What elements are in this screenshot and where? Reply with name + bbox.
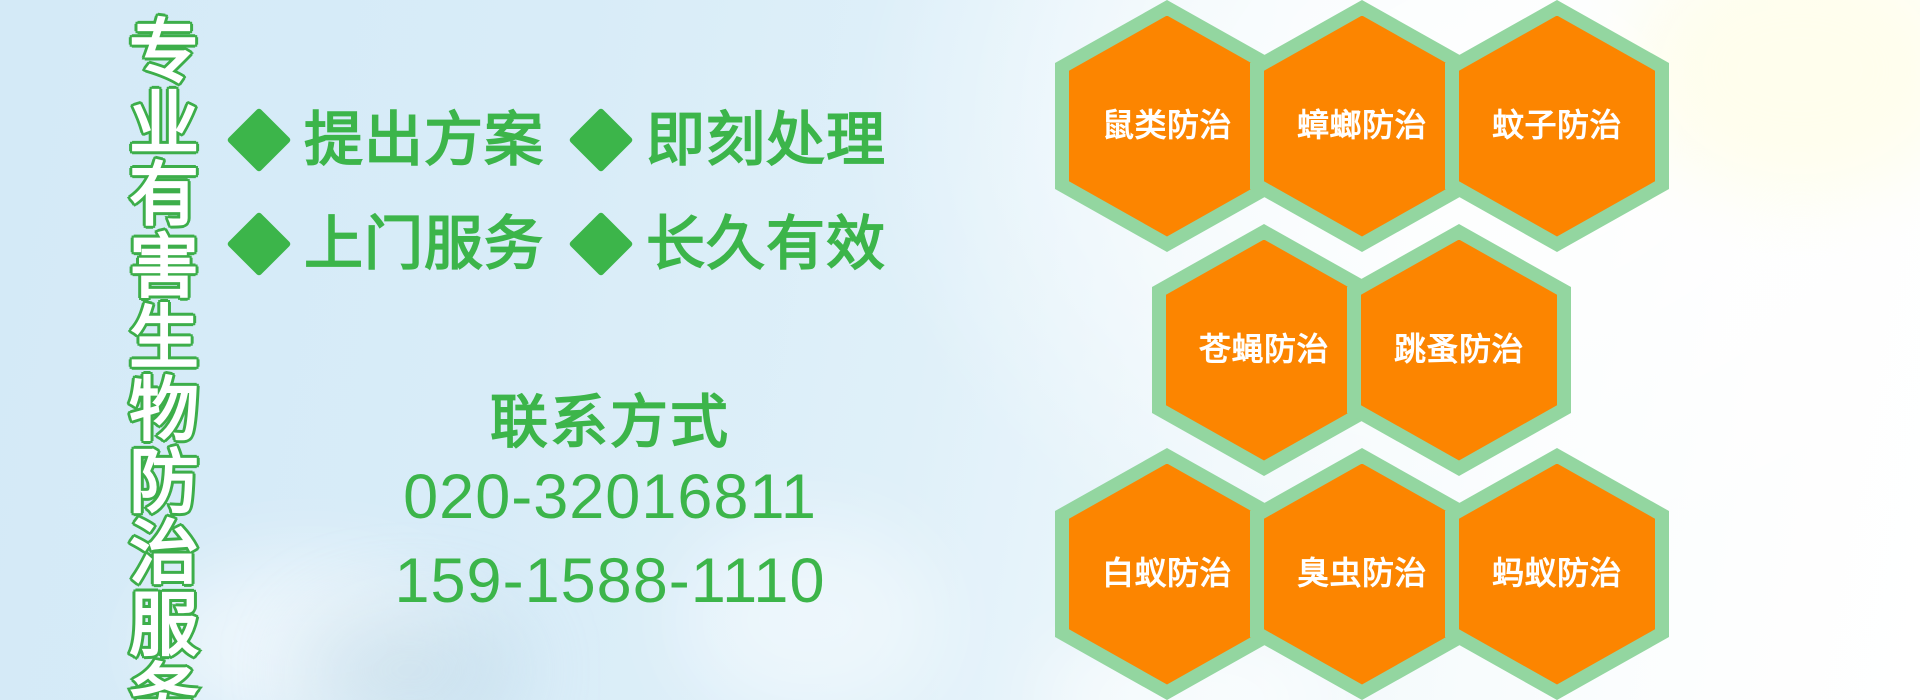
feature-label: 长久有效 xyxy=(646,215,886,274)
service-hex-fly[interactable]: 苍蝇防治 xyxy=(1152,224,1376,476)
service-label: 蚂蚁防治 xyxy=(1492,556,1622,591)
contact-block: 联系方式 020-32016811 159-1588-1110 xyxy=(300,392,920,623)
feature-item: 上门服务 xyxy=(236,215,544,274)
vertical-headline-char: 专 xyxy=(129,18,199,87)
service-label: 蚊子防治 xyxy=(1492,108,1622,143)
service-hex-termite[interactable]: 白蚁防治 xyxy=(1055,448,1279,700)
feature-item: 即刻处理 xyxy=(578,111,886,170)
vertical-headline-char: 务 xyxy=(129,662,199,700)
diamond-icon xyxy=(226,211,291,276)
vertical-headline-char: 物 xyxy=(129,376,199,445)
vertical-headline-char: 服 xyxy=(129,591,199,660)
service-label: 鼠类防治 xyxy=(1102,108,1232,143)
contact-phone-mobile[interactable]: 159-1588-1110 xyxy=(300,539,920,623)
contact-title: 联系方式 xyxy=(300,392,920,455)
vertical-headline-char: 防 xyxy=(129,448,199,517)
hex-inner: 苍蝇防治 xyxy=(1166,240,1362,461)
hex-inner: 臭虫防治 xyxy=(1264,464,1460,685)
diamond-icon xyxy=(568,107,633,172)
feature-item: 长久有效 xyxy=(578,215,886,274)
feature-row: 上门服务 长久有效 xyxy=(236,192,876,296)
service-label: 蟑螂防治 xyxy=(1297,108,1427,143)
hex-inner: 蚂蚁防治 xyxy=(1459,464,1655,685)
hex-inner: 蚊子防治 xyxy=(1459,16,1655,237)
service-label: 跳蚤防治 xyxy=(1394,332,1524,367)
feature-label: 即刻处理 xyxy=(646,111,886,170)
service-hexagon-grid: 鼠类防治 蟑螂防治 蚊子防治 苍蝇防治 跳蚤防治 白蚁防治 xyxy=(1055,0,1815,700)
service-label: 臭虫防治 xyxy=(1297,556,1427,591)
service-hex-cockroach[interactable]: 蟑螂防治 xyxy=(1250,0,1474,252)
service-hex-bedbug[interactable]: 臭虫防治 xyxy=(1250,448,1474,700)
vertical-headline-char: 业 xyxy=(129,90,199,159)
hex-inner: 白蚁防治 xyxy=(1069,464,1265,685)
background-blob xyxy=(300,610,520,700)
vertical-headline-char: 治 xyxy=(129,519,199,588)
vertical-headline-char: 有 xyxy=(129,161,199,230)
diamond-icon xyxy=(226,107,291,172)
feature-item: 提出方案 xyxy=(236,111,544,170)
service-hex-mosquito[interactable]: 蚊子防治 xyxy=(1445,0,1669,252)
service-hex-flea[interactable]: 跳蚤防治 xyxy=(1347,224,1571,476)
service-label: 苍蝇防治 xyxy=(1199,332,1329,367)
contact-phone-landline[interactable]: 020-32016811 xyxy=(300,455,920,539)
vertical-headline: 专 业 有 害 生 物 防 治 服 务 xyxy=(112,18,216,682)
service-label: 白蚁防治 xyxy=(1102,556,1232,591)
feature-label: 上门服务 xyxy=(304,215,544,274)
feature-list: 提出方案 即刻处理 上门服务 长久有效 xyxy=(236,88,876,296)
service-hex-rodent[interactable]: 鼠类防治 xyxy=(1055,0,1279,252)
pest-control-banner: 专 业 有 害 生 物 防 治 服 务 提出方案 即刻处理 上门服务 xyxy=(0,0,1920,700)
feature-row: 提出方案 即刻处理 xyxy=(236,88,876,192)
hex-inner: 鼠类防治 xyxy=(1069,16,1265,237)
feature-label: 提出方案 xyxy=(304,111,544,170)
hex-inner: 跳蚤防治 xyxy=(1361,240,1557,461)
vertical-headline-char: 生 xyxy=(129,304,199,373)
hex-inner: 蟑螂防治 xyxy=(1264,16,1460,237)
diamond-icon xyxy=(568,211,633,276)
service-hex-ant[interactable]: 蚂蚁防治 xyxy=(1445,448,1669,700)
vertical-headline-char: 害 xyxy=(129,233,199,302)
